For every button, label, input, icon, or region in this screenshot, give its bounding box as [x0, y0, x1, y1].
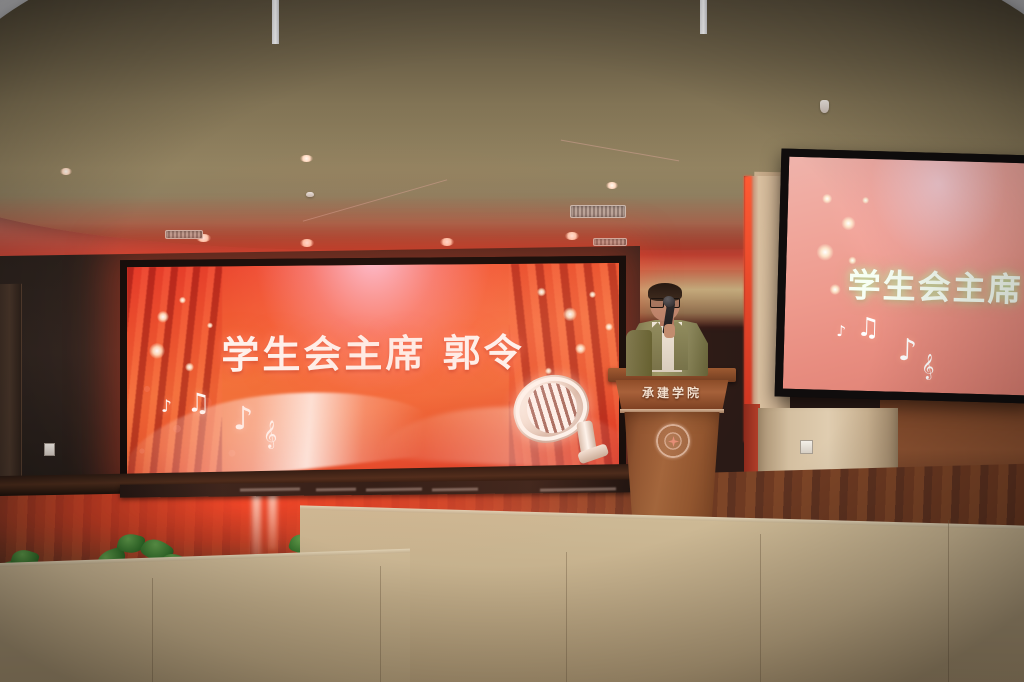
- led-video-wall: 学生会主席 郭令 ♪ ♫ ♪ 𝄞: [120, 256, 626, 486]
- air-vent-icon: [593, 238, 627, 246]
- ceiling-hanger-icon: [700, 0, 707, 34]
- podium-inscription: 承建学院: [606, 384, 738, 401]
- music-note-icon: ♫: [856, 315, 880, 342]
- panel-seam: [380, 566, 381, 682]
- treble-clef-icon: 𝄞: [921, 356, 935, 378]
- stage-side-door[interactable]: [0, 284, 22, 484]
- projection-screen: 学生会主席 ♪ ♫ ♪ 𝄞: [775, 148, 1024, 403]
- projection-screen-title: 学生会主席: [847, 258, 1023, 311]
- air-vent-icon: [165, 230, 203, 239]
- downlight-icon: [300, 239, 314, 247]
- sparkle-icon: [563, 307, 577, 321]
- speaker-hand: [664, 324, 675, 338]
- downlight-icon: [565, 232, 579, 240]
- wall-switch[interactable]: [44, 443, 55, 456]
- downlight-icon: [60, 168, 72, 175]
- air-vent-icon: [570, 205, 626, 218]
- downlight-icon: [300, 155, 313, 162]
- music-note-icon: ♪: [897, 336, 917, 367]
- downlight-icon: [606, 182, 618, 189]
- sparkle-icon: [157, 311, 169, 323]
- downlight-icon: [440, 238, 454, 246]
- sprinkler-head-icon: [306, 192, 314, 197]
- panel-seam: [760, 534, 761, 682]
- stage-front-panel-left: [0, 553, 410, 682]
- panel-seam: [566, 552, 567, 682]
- wall-outlet[interactable]: [800, 440, 813, 454]
- sparkle-icon: [537, 287, 546, 296]
- panel-seam: [152, 578, 153, 682]
- sprinkler-head-icon: [820, 100, 829, 113]
- auditorium-stage-photo: 学生会主席 郭令 ♪ ♫ ♪ 𝄞 学生会主席 ♪ ♫ ♪ 𝄞: [0, 0, 1024, 682]
- sparkle-icon: [179, 297, 186, 304]
- ceiling-hanger-icon: [272, 0, 279, 44]
- speaker-person: [622, 282, 714, 374]
- speaker-arm: [626, 330, 652, 376]
- music-note-icon: ♪: [161, 399, 172, 416]
- sparkle-icon: [589, 291, 596, 298]
- pillar-red-light-edge: [744, 176, 752, 442]
- panel-seam: [948, 520, 949, 682]
- music-note-icon: ♪: [836, 324, 846, 339]
